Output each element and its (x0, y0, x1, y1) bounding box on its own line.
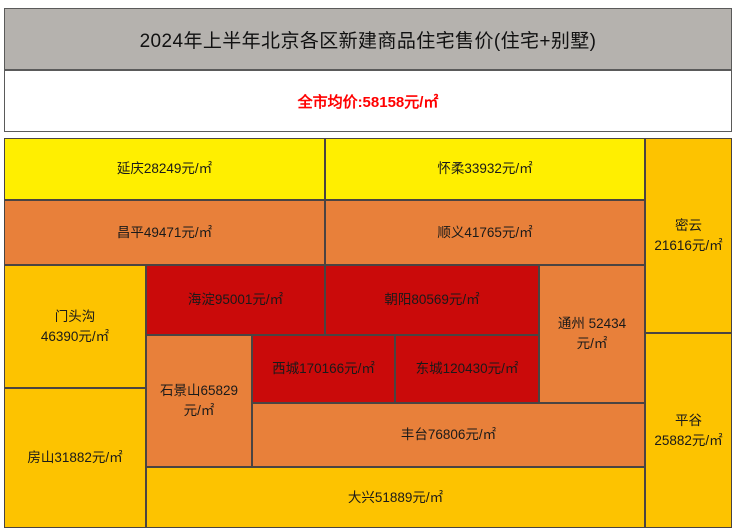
treemap-cell-label: 延庆28249元/㎡ (117, 159, 212, 179)
treemap-cell-房山[interactable]: 房山31882元/㎡ (4, 388, 146, 528)
treemap-cell-label: 西城170166元/㎡ (272, 359, 375, 379)
treemap-cell-门头沟[interactable]: 门头沟46390元/㎡ (4, 265, 146, 388)
treemap-cell-密云[interactable]: 密云21616元/㎡ (645, 138, 732, 333)
treemap-cell-label: 海淀95001元/㎡ (188, 290, 283, 310)
city-average-band: 全市均价:58158元/㎡ (4, 70, 732, 132)
treemap-cell-海淀[interactable]: 海淀95001元/㎡ (146, 265, 325, 335)
treemap-cell-label: 房山31882元/㎡ (27, 448, 122, 468)
treemap-cell-label: 石景山65829 (160, 381, 238, 401)
treemap-cell-label-line2: 元/㎡ (577, 334, 608, 354)
treemap-cell-label: 东城120430元/㎡ (416, 359, 519, 379)
treemap-cell-label: 朝阳80569元/㎡ (384, 290, 479, 310)
page-title: 2024年上半年北京各区新建商品住宅售价(住宅+别墅) (140, 26, 597, 53)
treemap-cell-平谷[interactable]: 平谷25882元/㎡ (645, 333, 732, 528)
treemap-cell-label-line2: 元/㎡ (184, 401, 215, 421)
treemap-cell-丰台[interactable]: 丰台76806元/㎡ (252, 403, 645, 467)
treemap-cell-东城[interactable]: 东城120430元/㎡ (395, 335, 539, 403)
treemap-cell-label: 丰台76806元/㎡ (401, 425, 496, 445)
treemap-container: 延庆28249元/㎡怀柔33932元/㎡密云21616元/㎡昌平49471元/㎡… (4, 138, 732, 528)
treemap-cell-怀柔[interactable]: 怀柔33932元/㎡ (325, 138, 645, 200)
treemap-cell-西城[interactable]: 西城170166元/㎡ (252, 335, 395, 403)
treemap-cell-石景山[interactable]: 石景山65829元/㎡ (146, 335, 252, 467)
treemap-cell-label: 昌平49471元/㎡ (117, 223, 212, 243)
treemap-cell-label: 门头沟 (55, 307, 96, 327)
chart-title-band: 2024年上半年北京各区新建商品住宅售价(住宅+别墅) (4, 8, 732, 70)
treemap-cell-label: 顺义41765元/㎡ (437, 223, 532, 243)
treemap-cell-label: 平谷 (675, 411, 702, 431)
treemap-cell-label: 怀柔33932元/㎡ (437, 159, 532, 179)
treemap-cell-通州[interactable]: 通州 52434元/㎡ (539, 265, 645, 403)
treemap-cell-昌平[interactable]: 昌平49471元/㎡ (4, 200, 325, 265)
treemap-cell-label: 通州 52434 (558, 314, 626, 334)
treemap-page: 2024年上半年北京各区新建商品住宅售价(住宅+别墅) 全市均价:58158元/… (0, 0, 740, 532)
treemap-cell-label-line2: 25882元/㎡ (654, 431, 722, 451)
treemap-cell-朝阳[interactable]: 朝阳80569元/㎡ (325, 265, 539, 335)
treemap-cell-大兴[interactable]: 大兴51889元/㎡ (146, 467, 645, 528)
treemap-cell-顺义[interactable]: 顺义41765元/㎡ (325, 200, 645, 265)
treemap-cell-label: 密云 (675, 216, 702, 236)
treemap-cell-延庆[interactable]: 延庆28249元/㎡ (4, 138, 325, 200)
treemap-cell-label: 大兴51889元/㎡ (348, 488, 443, 508)
city-average-label: 全市均价:58158元/㎡ (298, 91, 439, 112)
treemap-cell-label-line2: 46390元/㎡ (41, 327, 109, 347)
treemap-cell-label-line2: 21616元/㎡ (654, 236, 722, 256)
